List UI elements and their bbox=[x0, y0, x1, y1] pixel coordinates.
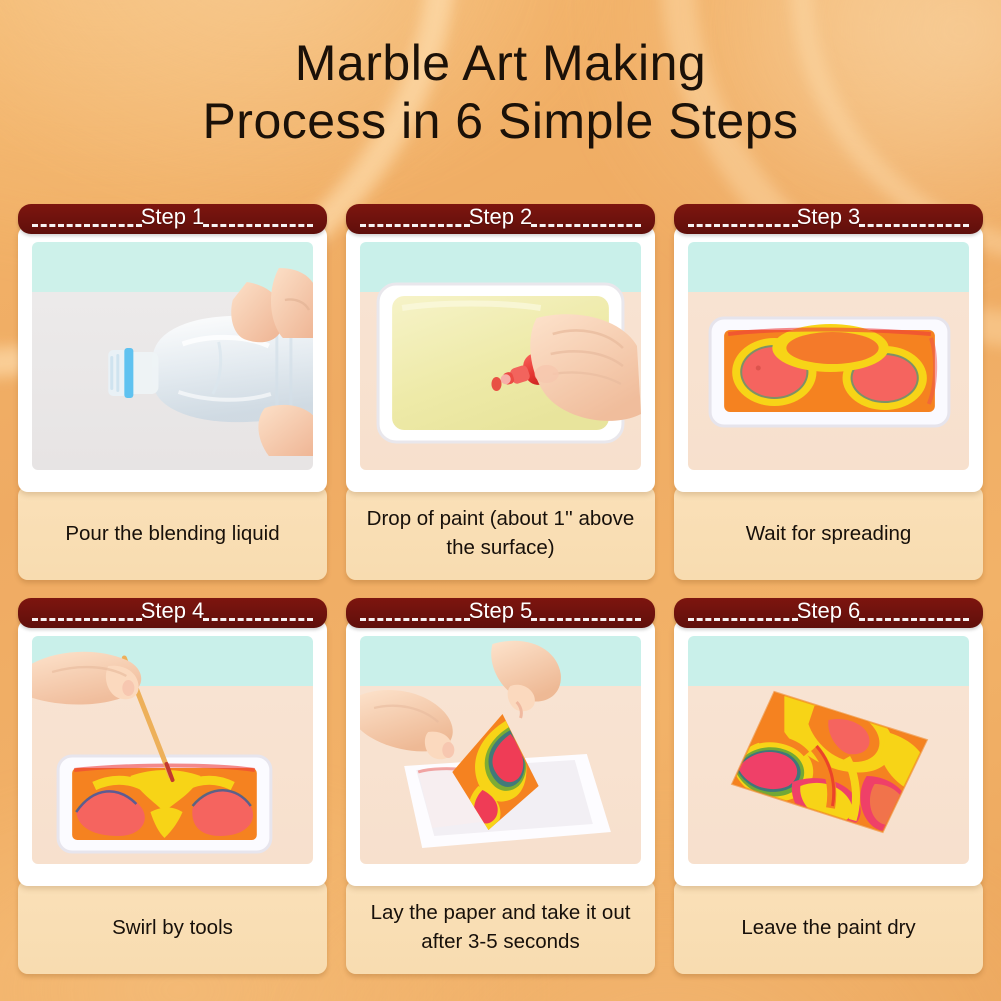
scene-hand-pouring-bottle bbox=[32, 242, 313, 470]
step-card-2: Step 2 bbox=[346, 204, 655, 586]
step-card-4: Step 4 bbox=[18, 598, 327, 980]
step-card-6: Step 6 bbox=[674, 598, 983, 980]
step-card-1: Step 1 bbox=[18, 204, 327, 586]
step-label-3: Step 3 bbox=[789, 206, 869, 228]
step-label-6: Step 6 bbox=[789, 600, 869, 622]
dashed-line-left bbox=[32, 224, 142, 227]
title-line-1: Marble Art Making bbox=[0, 34, 1001, 92]
dashed-line-right bbox=[859, 618, 969, 621]
step-header-5: Step 5 bbox=[346, 598, 655, 628]
step-label-2: Step 2 bbox=[461, 206, 541, 228]
step-caption-6: Leave the paint dry bbox=[674, 880, 983, 974]
dashed-line-left bbox=[360, 618, 470, 621]
step-photo-5 bbox=[360, 636, 641, 864]
dashed-line-left bbox=[688, 224, 798, 227]
step-photo-panel-4 bbox=[18, 620, 327, 886]
step-label-4: Step 4 bbox=[133, 600, 213, 622]
step-caption-2: Drop of paint (about 1'' above the surfa… bbox=[346, 486, 655, 580]
step-photo-panel-3 bbox=[674, 226, 983, 492]
step-photo-panel-2 bbox=[346, 226, 655, 492]
scene-paint-spreading bbox=[688, 242, 969, 470]
step-header-4: Step 4 bbox=[18, 598, 327, 628]
step-photo-panel-5 bbox=[346, 620, 655, 886]
step-card-3: Step 3 bbox=[674, 204, 983, 586]
step-caption-5: Lay the paper and take it out after 3-5 … bbox=[346, 880, 655, 974]
step-photo-1 bbox=[32, 242, 313, 470]
dashed-line-right bbox=[531, 618, 641, 621]
step-card-5: Step 5 bbox=[346, 598, 655, 980]
step-label-1: Step 1 bbox=[133, 206, 213, 228]
step-photo-panel-1 bbox=[18, 226, 327, 492]
step-photo-2 bbox=[360, 242, 641, 470]
step-photo-panel-6 bbox=[674, 620, 983, 886]
step-caption-4: Swirl by tools bbox=[18, 880, 327, 974]
step-caption-3: Wait for spreading bbox=[674, 486, 983, 580]
page-title: Marble Art Making Process in 6 Simple St… bbox=[0, 34, 1001, 150]
step-photo-3 bbox=[688, 242, 969, 470]
scene-dropping-paint bbox=[360, 242, 641, 470]
dashed-line-right bbox=[203, 224, 313, 227]
dashed-line-right bbox=[531, 224, 641, 227]
step-header-3: Step 3 bbox=[674, 204, 983, 234]
step-caption-1: Pour the blending liquid bbox=[18, 486, 327, 580]
step-photo-6 bbox=[688, 636, 969, 864]
step-header-2: Step 2 bbox=[346, 204, 655, 234]
poster-root: Marble Art Making Process in 6 Simple St… bbox=[0, 0, 1001, 1001]
step-label-5: Step 5 bbox=[461, 600, 541, 622]
dashed-line-right bbox=[859, 224, 969, 227]
dashed-line-right bbox=[203, 618, 313, 621]
dashed-line-left bbox=[32, 618, 142, 621]
scene-finished-artwork bbox=[688, 636, 969, 864]
step-header-6: Step 6 bbox=[674, 598, 983, 628]
title-line-2: Process in 6 Simple Steps bbox=[0, 92, 1001, 150]
dashed-line-left bbox=[360, 224, 470, 227]
scene-swirling-with-stick bbox=[32, 636, 313, 864]
step-photo-4 bbox=[32, 636, 313, 864]
steps-grid: Step 1 bbox=[18, 204, 983, 980]
dashed-line-left bbox=[688, 618, 798, 621]
scene-lifting-paper bbox=[360, 636, 641, 864]
step-header-1: Step 1 bbox=[18, 204, 327, 234]
